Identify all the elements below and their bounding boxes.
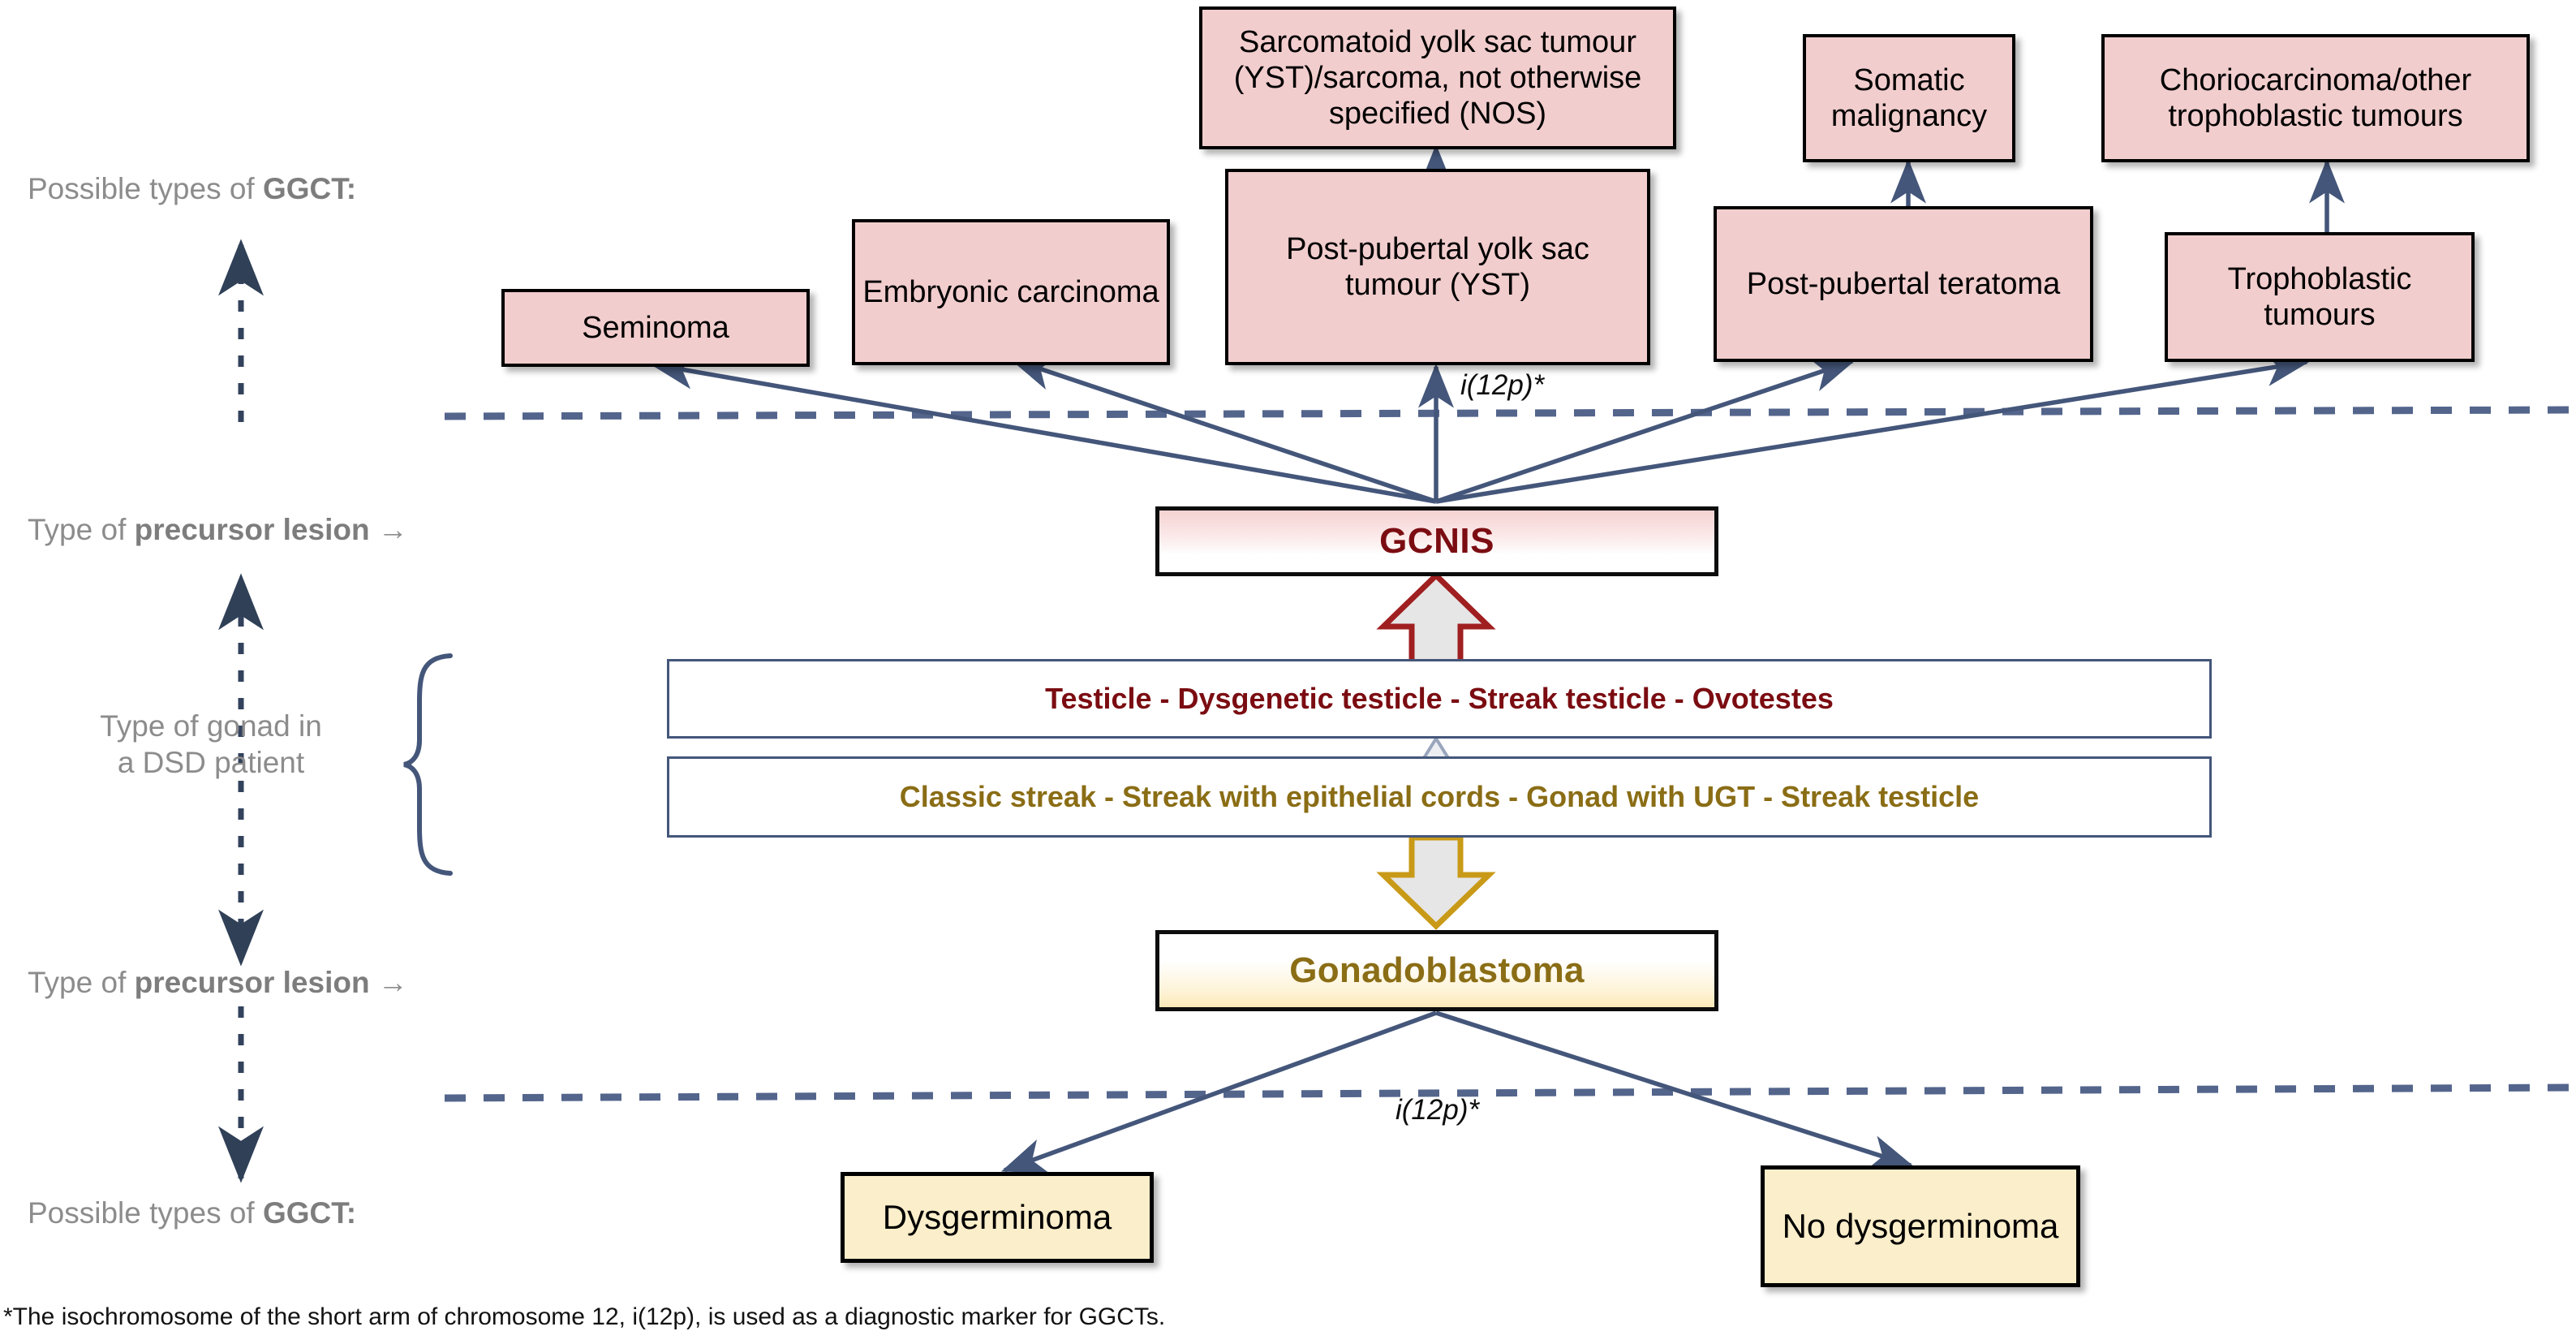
label-text-plain: Possible types of xyxy=(28,172,263,205)
node-seminoma[interactable]: Seminoma xyxy=(501,289,810,367)
label-gonad-type: Type of gonad in a DSD patient xyxy=(49,708,373,781)
dashed-divider-lower xyxy=(445,1088,2576,1098)
node-trophoblastic-tumours[interactable]: Trophoblastic tumours xyxy=(2165,232,2475,362)
node-label: Post-pubertal teratoma xyxy=(1717,266,2090,302)
label-bottom-possible-ggct: Possible types of GGCT: xyxy=(28,1196,356,1230)
node-label: Somatic malignancy xyxy=(1806,62,2012,134)
node-label: Classic streak - Streak with epithelial … xyxy=(669,780,2209,814)
diagram-canvas: Sarcomatoid yolk sac tumour (YST)/sarcom… xyxy=(0,0,2576,1344)
node-gonad-strip-streak[interactable]: Classic streak - Streak with epithelial … xyxy=(667,756,2212,838)
node-dysgerminoma[interactable]: Dysgerminoma xyxy=(841,1172,1154,1263)
node-label: GCNIS xyxy=(1159,520,1714,562)
label-text-plain: Type of xyxy=(28,513,135,546)
node-gonad-strip-testicular[interactable]: Testicle - Dysgenetic testicle - Streak … xyxy=(667,659,2212,739)
node-no-dysgerminoma[interactable]: No dysgerminoma xyxy=(1761,1165,2080,1287)
node-label: Choriocarcinoma/other trophoblastic tumo… xyxy=(2105,62,2527,134)
node-embryonic-carcinoma[interactable]: Embryonic carcinoma xyxy=(852,219,1170,365)
gonad-group-brace xyxy=(404,656,450,873)
node-label: No dysgerminoma xyxy=(1765,1207,2076,1247)
dashed-divider-upper xyxy=(445,410,2576,416)
node-label: Sarcomatoid yolk sac tumour (YST)/sarcom… xyxy=(1202,24,1673,131)
node-choriocarcinoma[interactable]: Choriocarcinoma/other trophoblastic tumo… xyxy=(2101,34,2530,162)
label-text-bold: precursor lesion xyxy=(135,513,370,546)
label-text-suffix: → xyxy=(370,513,408,546)
node-sarcomatoid-yst[interactable]: Sarcomatoid yolk sac tumour (YST)/sarcom… xyxy=(1199,6,1676,149)
label-text-plain: Possible types of xyxy=(28,1196,263,1230)
edge-gcnis-to-trophoblastic-tumours xyxy=(1436,362,2307,502)
edge-gcnis-to-seminoma xyxy=(653,364,1436,502)
node-gcnis[interactable]: GCNIS xyxy=(1155,506,1718,576)
figure-footnote: *The isochromosome of the short arm of c… xyxy=(3,1303,1165,1331)
node-label: Testicle - Dysgenetic testicle - Streak … xyxy=(669,682,2209,716)
block-arrow-down-to-gonadoblastoma xyxy=(1383,838,1489,926)
node-label: Gonadoblastoma xyxy=(1159,950,1714,991)
node-post-pubertal-teratoma[interactable]: Post-pubertal teratoma xyxy=(1714,206,2093,362)
label-text-bold: precursor lesion xyxy=(135,966,370,999)
label-top-possible-ggct: Possible types of GGCT: xyxy=(28,172,356,206)
edge-gonadoblastoma-to-dysgerminoma xyxy=(1004,1013,1436,1170)
node-post-pubertal-yst[interactable]: Post-pubertal yolk sac tumour (YST) xyxy=(1225,169,1650,365)
node-label: Embryonic carcinoma xyxy=(855,274,1167,310)
annotation-i12p-upper: i(12p)* xyxy=(1460,369,1544,402)
node-label: Dysgerminoma xyxy=(845,1198,1150,1238)
label-text-line2: a DSD patient xyxy=(118,746,304,779)
label-text-suffix: → xyxy=(370,966,408,999)
node-label: Trophoblastic tumours xyxy=(2168,261,2471,333)
label-text-bold: GGCT: xyxy=(263,1196,356,1230)
node-somatic-malignancy[interactable]: Somatic malignancy xyxy=(1803,34,2015,162)
node-label: Post-pubertal yolk sac tumour (YST) xyxy=(1228,231,1647,303)
block-arrow-up-to-gcnis xyxy=(1383,575,1489,664)
label-text-plain: Type of xyxy=(28,966,135,999)
edge-gonadoblastoma-to-no-dysgerminoma xyxy=(1436,1013,1911,1165)
label-text-bold: GGCT: xyxy=(263,172,356,205)
label-text-line1: Type of gonad in xyxy=(100,709,322,743)
label-upper-precursor-lesion: Type of precursor lesion → xyxy=(28,513,408,547)
node-gonadoblastoma[interactable]: Gonadoblastoma xyxy=(1155,930,1718,1011)
node-label: Seminoma xyxy=(505,310,806,346)
annotation-i12p-lower: i(12p)* xyxy=(1396,1094,1479,1126)
label-lower-precursor-lesion: Type of precursor lesion → xyxy=(28,966,408,1000)
edge-gcnis-to-embryonic-carcinoma xyxy=(1013,360,1436,502)
